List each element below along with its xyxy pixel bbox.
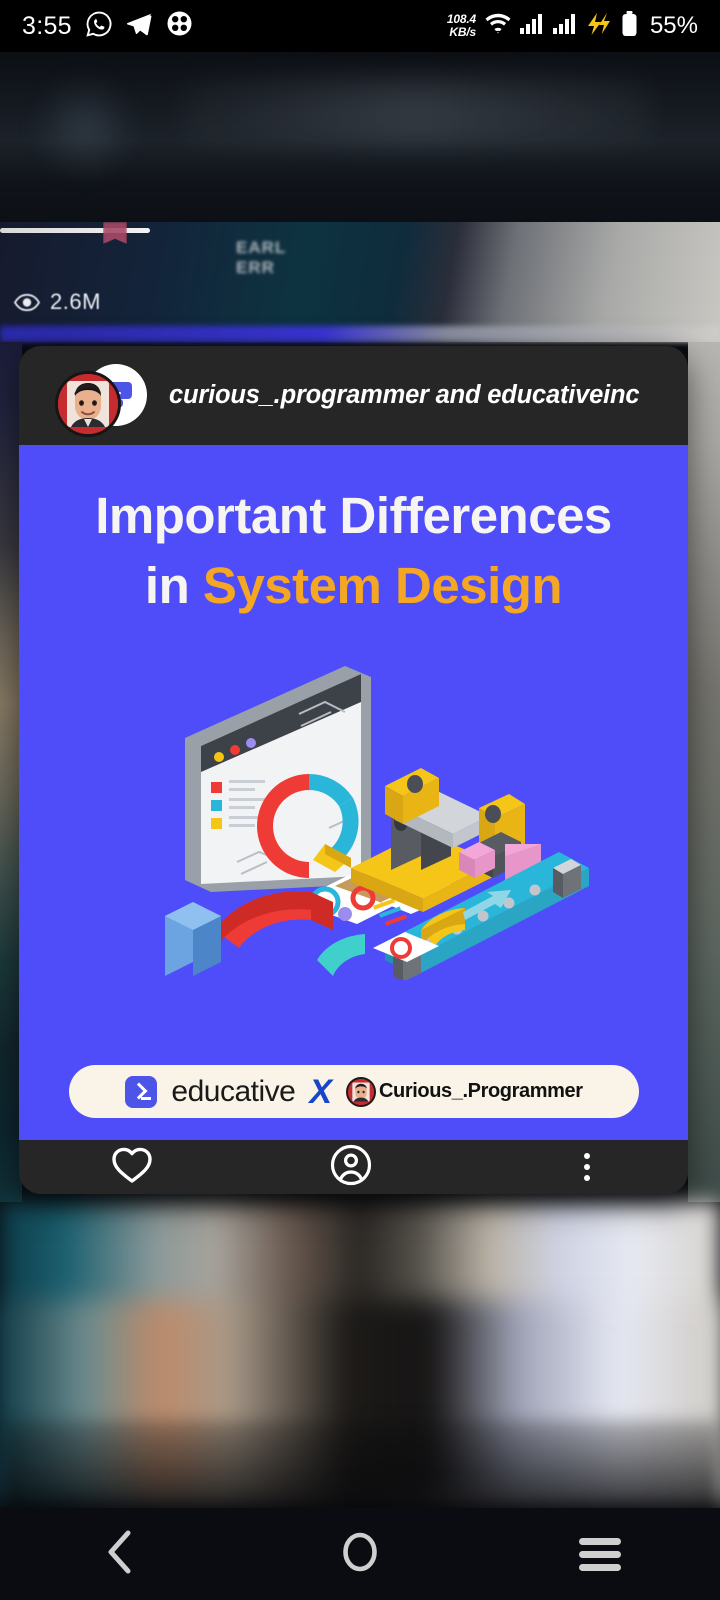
- network-speed: 108.4 KB/s: [447, 13, 476, 39]
- card-handle-label: curious_.programmer and educativeinc: [169, 381, 639, 410]
- collab-separator-icon: X: [309, 1075, 332, 1109]
- background-view-count: 2.6M: [14, 289, 101, 315]
- curious-programmer-label: Curious_.Programmer: [379, 1080, 583, 1103]
- home-icon: [340, 1529, 380, 1580]
- status-bar-left: 3:55: [22, 11, 192, 42]
- network-speed-unit: KB/s: [447, 26, 476, 39]
- post-title: Important Differences in System Design: [19, 481, 688, 621]
- back-icon: [105, 1529, 135, 1580]
- background-progress-bar: [0, 228, 150, 233]
- curious-programmer-small-avatar: [346, 1077, 376, 1107]
- avatar-group: [53, 361, 149, 431]
- whatsapp-icon: [86, 11, 112, 42]
- card-header: curious_.programmer and educativeinc: [19, 346, 688, 445]
- clock-label: 3:55: [22, 12, 72, 41]
- signal-sim2-icon: [553, 13, 577, 39]
- curious-programmer-avatar: [55, 371, 121, 437]
- educative-label: educative: [171, 1075, 295, 1109]
- more-options-button[interactable]: [430, 1153, 688, 1181]
- curious-brand: Curious_.Programmer: [346, 1077, 583, 1107]
- battery-percent-label: 55%: [650, 12, 698, 40]
- telegram-icon: [126, 12, 153, 41]
- app-flower-icon: [167, 11, 192, 41]
- educative-logo-icon: [125, 1076, 157, 1108]
- like-icon: [111, 1146, 153, 1189]
- post-title-highlight: System Design: [203, 557, 562, 614]
- profile-icon: [330, 1144, 372, 1191]
- status-bar-right: 108.4 KB/s: [447, 11, 698, 42]
- post-title-line-1: Important Differences: [19, 481, 688, 551]
- signal-sim1-icon: [520, 13, 544, 39]
- charging-bolt-icon: [586, 12, 612, 41]
- post-image[interactable]: Important Differences in System Design: [19, 445, 688, 1140]
- post-title-prefix: in: [145, 557, 203, 614]
- recents-icon: [579, 1538, 621, 1571]
- nav-recents-button[interactable]: [480, 1538, 720, 1571]
- brand-bar: educative X Curious_.Programmer: [69, 1065, 639, 1118]
- status-bar: 3:55 108.4 KB/s: [0, 0, 720, 52]
- like-button[interactable]: [19, 1146, 271, 1189]
- nav-back-button[interactable]: [0, 1529, 240, 1580]
- eye-icon: [14, 294, 40, 311]
- recents-app-card[interactable]: curious_.programmer and educativeinc Imp…: [19, 346, 688, 1194]
- nav-home-button[interactable]: [240, 1529, 480, 1580]
- wifi-icon: [485, 13, 511, 39]
- post-title-line-2: in System Design: [19, 551, 688, 621]
- profile-button[interactable]: [271, 1144, 431, 1191]
- battery-icon: [621, 11, 638, 42]
- background-ghost-line-2: ERR: [236, 258, 286, 278]
- background-ghost-text: EARL ERR: [236, 238, 286, 278]
- background-blurred-panel-top: [0, 52, 720, 237]
- isometric-data-pipeline-illustration: [149, 630, 589, 980]
- navigation-bar: [0, 1508, 720, 1600]
- view-count-label: 2.6M: [50, 289, 101, 315]
- background-right-strip: [688, 342, 720, 1202]
- background-ghost-line-1: EARL: [236, 238, 286, 258]
- card-action-bar: [19, 1140, 688, 1194]
- more-options-icon: [584, 1153, 590, 1181]
